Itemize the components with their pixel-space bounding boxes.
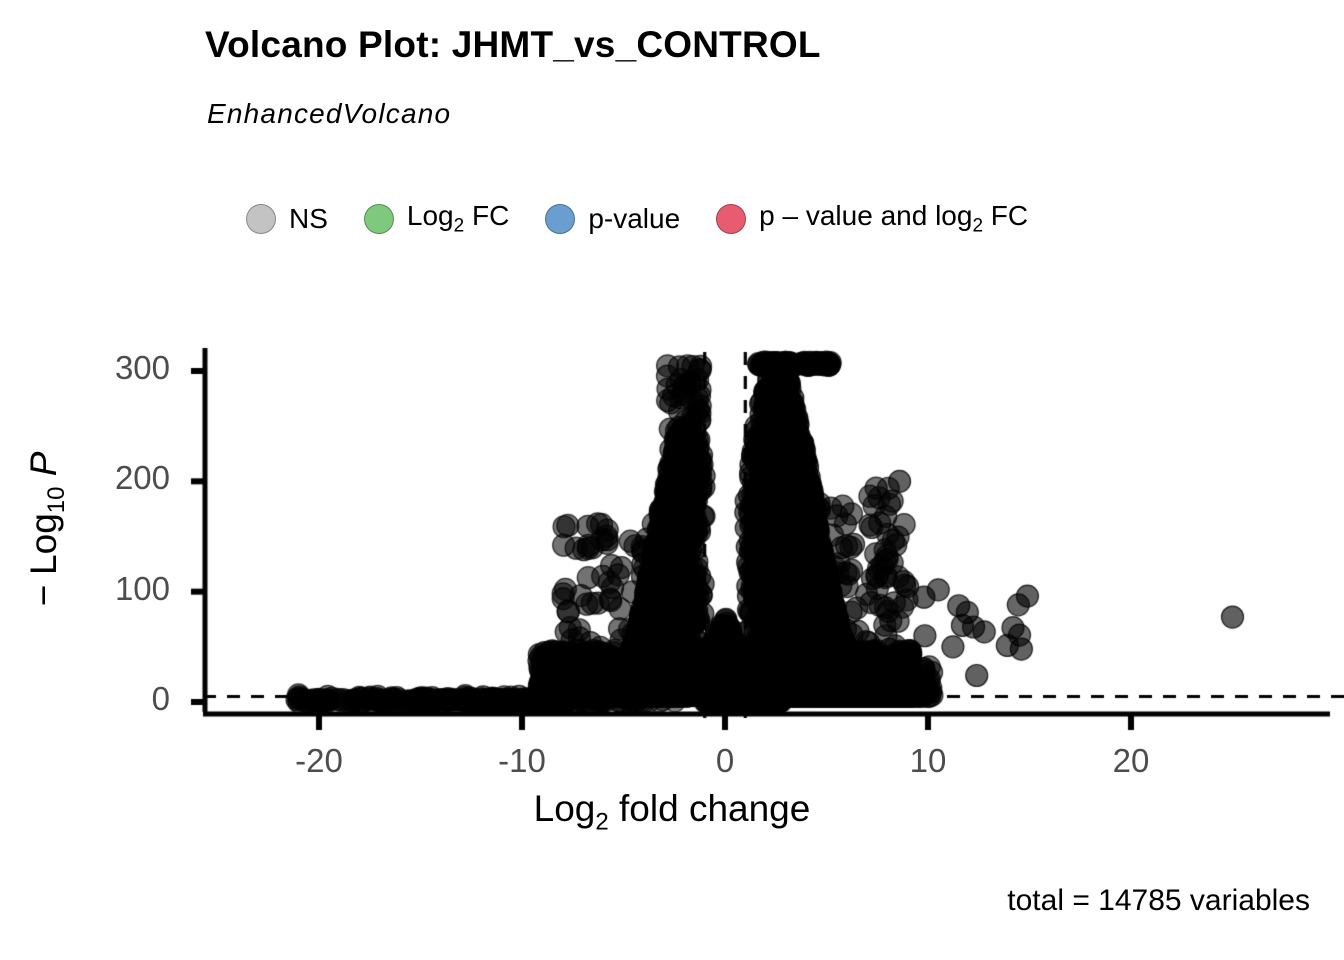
y-tick-label-200: 200 [60, 459, 170, 497]
y-tick-label-0: 0 [60, 680, 170, 718]
x-tick-label-0: 0 [665, 742, 785, 780]
x-tick-label-20: 20 [1071, 742, 1191, 780]
x-tick-label-10: 10 [868, 742, 988, 780]
volcano-plot-figure: Volcano Plot: JHMT_vs_CONTROL EnhancedVo… [0, 0, 1344, 960]
x-tick-label--10: -10 [462, 742, 582, 780]
x-axis-title: Log2 fold change [0, 788, 1344, 836]
y-tick-label-100: 100 [60, 570, 170, 608]
y-axis-title: − Log10 P [23, 364, 71, 694]
x-tick-label--20: -20 [259, 742, 379, 780]
y-tick-label-300: 300 [60, 349, 170, 387]
total-variables-caption: total = 14785 variables [1007, 884, 1310, 918]
